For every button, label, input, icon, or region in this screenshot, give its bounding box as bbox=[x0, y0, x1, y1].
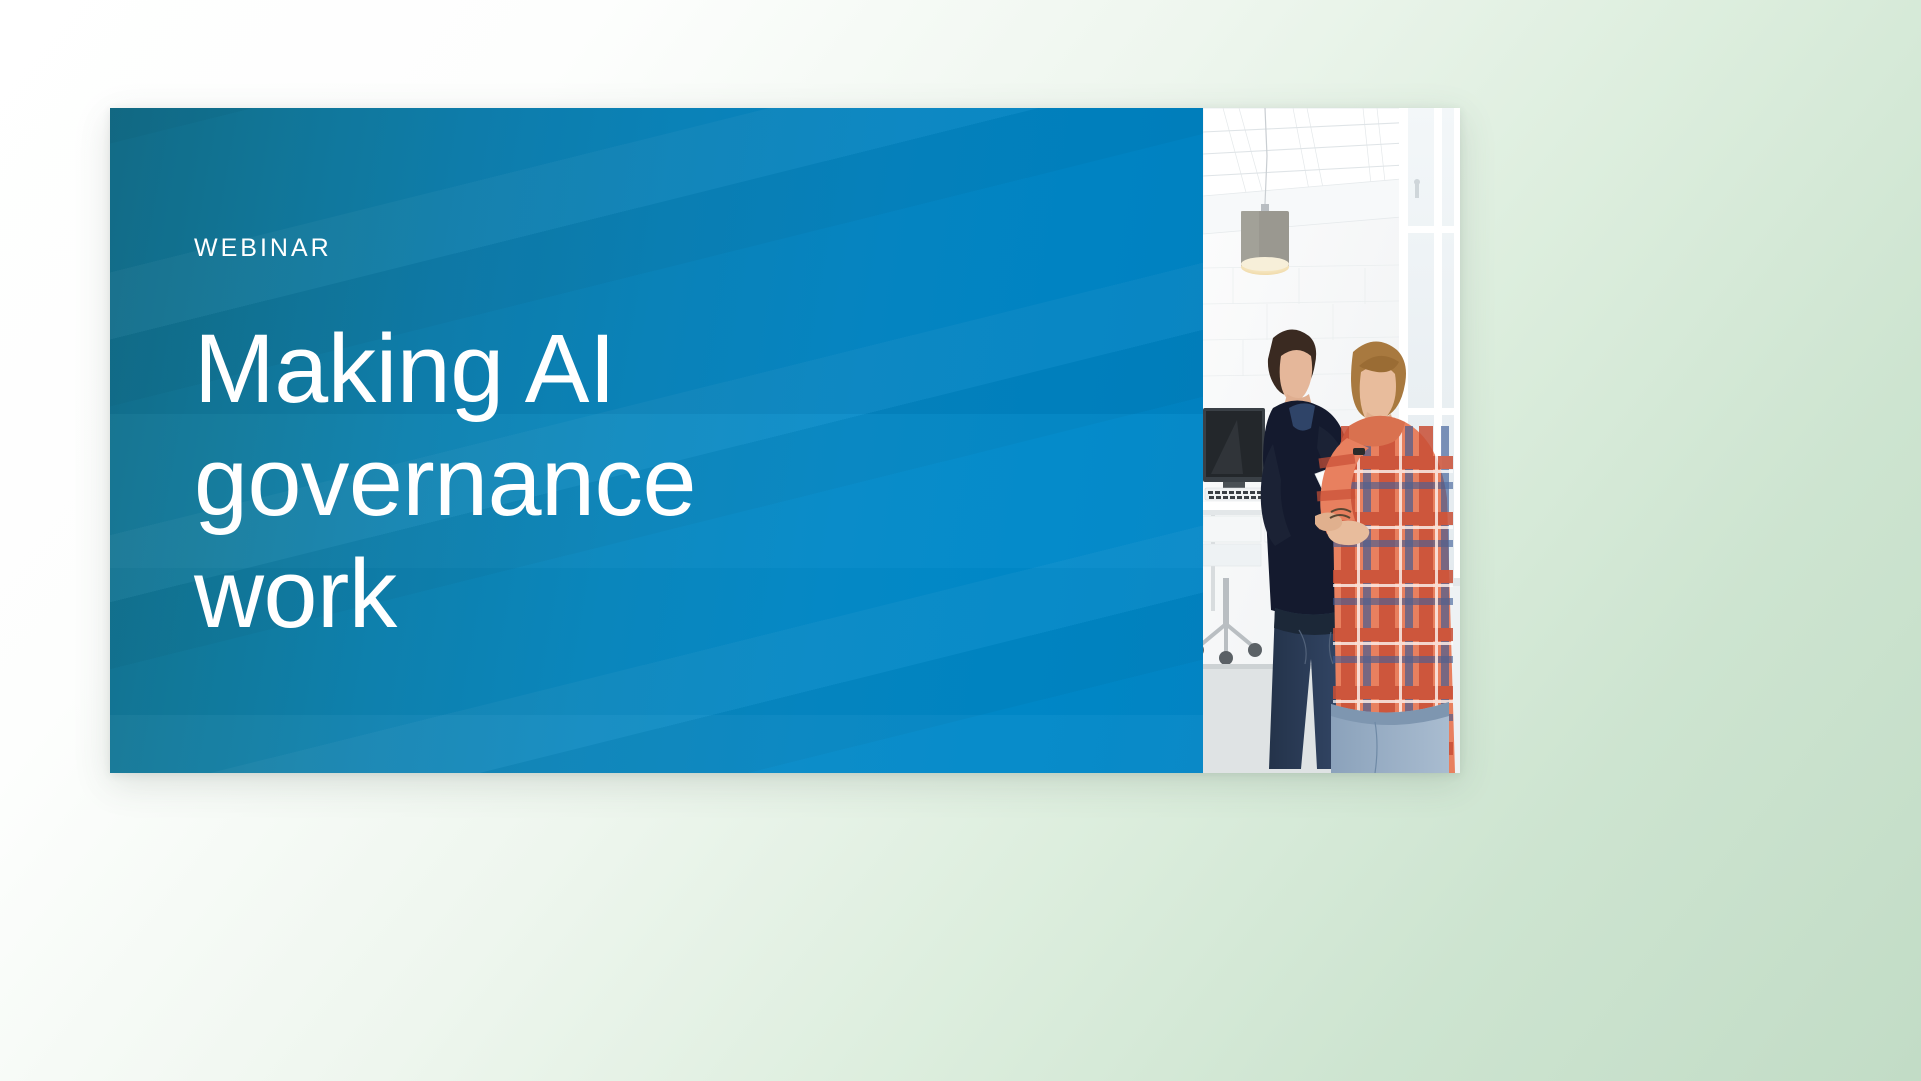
panel-content: WEBINAR Making AI governance work bbox=[194, 236, 1163, 651]
webinar-card: WEBINAR Making AI governance work bbox=[110, 108, 1460, 773]
title-panel: WEBINAR Making AI governance work bbox=[110, 108, 1203, 773]
eyebrow-label: WEBINAR bbox=[194, 236, 1163, 261]
office-scene-illustration bbox=[1203, 108, 1460, 773]
hero-photo bbox=[1203, 108, 1460, 773]
page-title: Making AI governance work bbox=[194, 313, 814, 651]
monitor bbox=[1203, 408, 1265, 488]
